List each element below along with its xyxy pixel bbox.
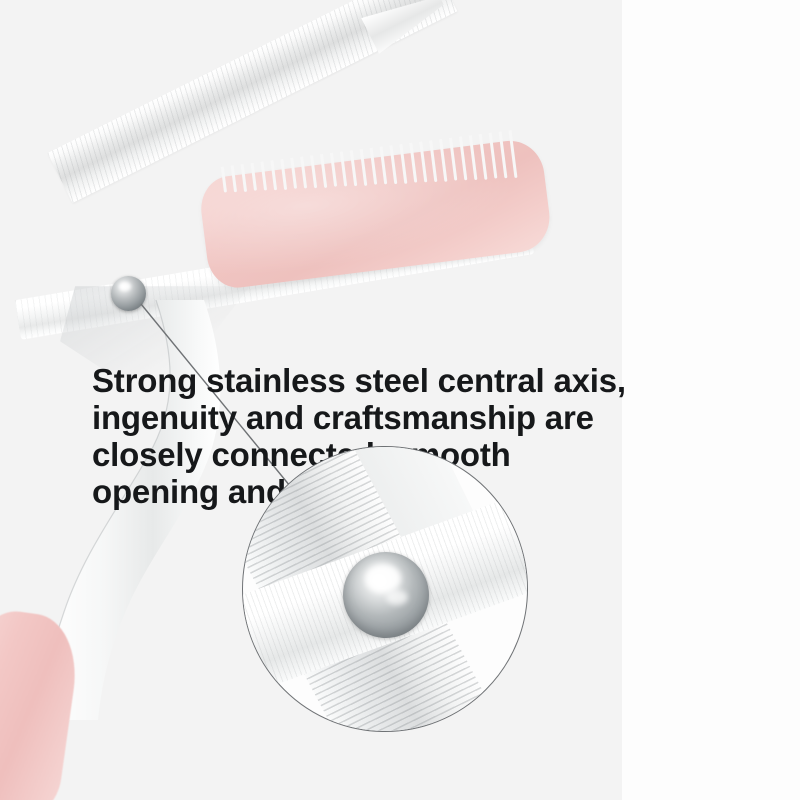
- comb-tooth-gap: [251, 163, 258, 191]
- comb-tooth-gap: [469, 135, 478, 180]
- comb-tooth-gap: [270, 160, 277, 190]
- comb-tooth-gap: [499, 131, 508, 178]
- comb-tooth-gap: [231, 165, 237, 192]
- comb-tooth-gap: [459, 136, 467, 180]
- comb-tooth-gap: [409, 143, 417, 183]
- comb-tooth-gap: [280, 159, 287, 190]
- comb-tooth-gap: [340, 151, 347, 186]
- product-image-canvas: Strong stainless steel central axis, ing…: [0, 0, 800, 800]
- comb-tooth-gap: [370, 148, 378, 185]
- comb-tooth-gap: [310, 155, 317, 188]
- comb-tooth-gap: [429, 140, 437, 182]
- comb-tooth-gap: [221, 166, 227, 192]
- magnifier-circle: [242, 446, 528, 732]
- comb-tooth-gap: [380, 146, 388, 184]
- comb-tooth-gap: [320, 154, 327, 188]
- magnified-central-rivet: [343, 552, 429, 638]
- comb-tooth-gap: [449, 138, 457, 181]
- comb-tooth-gap: [290, 158, 297, 189]
- comb-tooth-gap: [389, 145, 397, 184]
- central-rivet: [111, 276, 146, 311]
- comb-tooth-gap: [419, 141, 427, 182]
- comb-tooth-gap: [260, 161, 267, 190]
- comb-tooth-gap: [479, 134, 488, 180]
- comb-tooth-gap: [300, 156, 307, 188]
- comb-tooth-gap: [508, 130, 517, 178]
- comb-tooth-gap: [399, 144, 407, 184]
- comb-tooth-gap: [360, 149, 368, 186]
- comb-tooth-gap: [330, 153, 337, 187]
- comb-tooth-gap: [439, 139, 447, 182]
- comb-tooth-gap: [350, 150, 357, 186]
- comb-tooth-gap: [489, 133, 498, 179]
- comb-tooth-gap: [241, 164, 247, 192]
